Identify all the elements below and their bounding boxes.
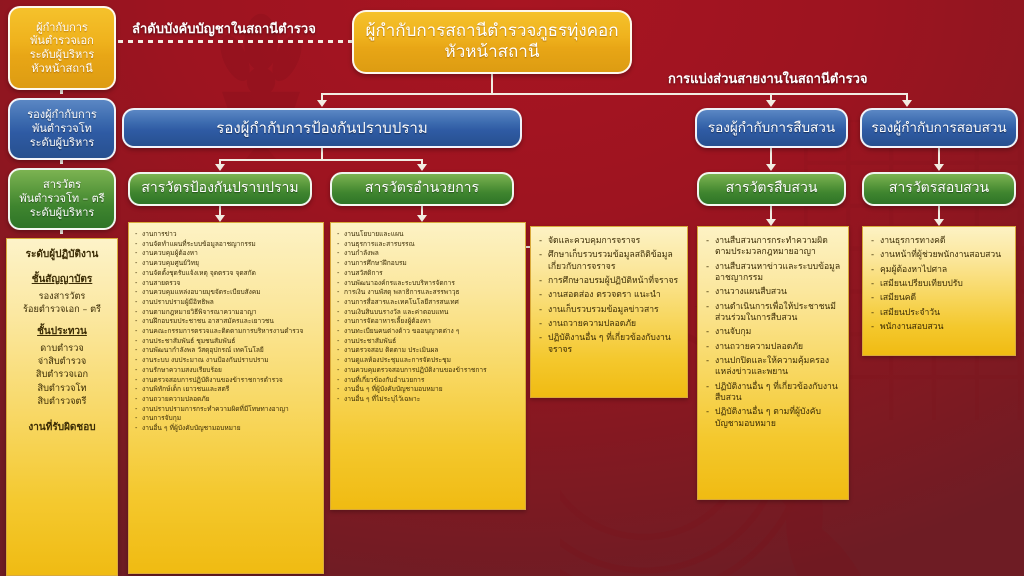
deputy-prevention-label: รองผู้กำกับการป้องกันปราบปราม [130, 119, 514, 138]
sidebar-footer-label: งานที่รับผิดชอบ [11, 420, 113, 435]
sidebar-commissioned-row: รองสารวัตร [11, 290, 113, 303]
rank-deputy-line-2: พันตำรวจโท [16, 122, 108, 136]
connector-sw-inquiry-down [938, 206, 940, 220]
rank-box-superintendent[interactable]: ผู้กำกับการ พันตำรวจเอก ระดับผู้บริหาร ห… [8, 6, 116, 90]
rank-deputy-line-1: รองผู้กำกับการ [16, 108, 108, 122]
sidebar-section-noncommissioned-title: ชั้นประทวน [11, 324, 113, 339]
duty-item: งานนโยบายและแผน [337, 230, 521, 239]
rank-insp-line-3: ระดับผู้บริหาร [16, 206, 108, 220]
duty-item: งานระบบ งบประมาณ งานป้องกันปราบปราม [135, 356, 319, 365]
connector-inquiry-to-sw [938, 148, 940, 165]
duty-item: การศึกษาอบรมผู้ปฏิบัติหน้าที่จราจร [539, 276, 680, 287]
arrow-sw-inquiry [934, 164, 944, 171]
sidebar-heading: ระดับผู้ปฏิบัติงาน [11, 247, 113, 262]
inspector-investigation-box[interactable]: สารวัตรสืบสวน [697, 172, 846, 206]
duty-item: ปฏิบัติงานอื่น ๆ ที่เกี่ยวข้องกับงานสืบส… [706, 382, 841, 405]
connector-main-bus [321, 93, 907, 95]
rank-insp-line-2: พันตำรวจโท – ตรี [16, 192, 108, 206]
duties-panel-traffic: จัดและควบคุมการจราจรศึกษาเก็บรวบรวมข้อมู… [530, 226, 688, 398]
duties-list-prevention: งานการข่าวงานจัดทำแผนที่ระบบข้อมูลอาชญาก… [135, 230, 319, 433]
arrow-panel-inquiry [934, 219, 944, 226]
duty-item: งานฝึกอบรมประชาชน อาสาสมัครและเยาวชน [135, 317, 319, 326]
deputy-investigation-label: รองผู้กำกับการสืบสวน [703, 120, 840, 137]
duty-item: เสมียนประจำวัน [871, 308, 1008, 319]
duty-item: งานตรวจสอบการปฏิบัติงานของข้าราชการตำรวจ [135, 376, 319, 385]
sidebar-section-commissioned-title: ชั้นสัญญาบัตร [11, 272, 113, 287]
duty-item: งานถวายความปลอดภัย [706, 342, 841, 353]
inspector-inquiry-box[interactable]: สารวัตรสอบสวน [862, 172, 1016, 206]
rank-box-deputy-superintendent[interactable]: รองผู้กำกับการ พันตำรวจโท ระดับผู้บริหาร [8, 98, 116, 160]
duty-item: งานธุรการทางคดี [871, 236, 1008, 247]
duties-list-inquiry: งานธุรการทางคดีงานหน้าที่ผู้ช่วยพนักงานส… [871, 236, 1008, 333]
connector-sw-inves-down [770, 206, 772, 220]
connector-ladder-to-chief [118, 40, 354, 43]
duty-item: งานการศึกษาฝึกอบรม [337, 259, 521, 268]
duty-item: งานตรวจสอบ ติดตาม ประเมินผล [337, 346, 521, 355]
duty-item: ศึกษาเก็บรวบรวมข้อมูลสถิติข้อมูลเกี่ยวกั… [539, 250, 680, 273]
duty-item: งานสืบสวนการกระทำความผิดตามประมวลกฎหมายอ… [706, 236, 841, 259]
sidebar-noncommissioned-row: สิบตำรวจโท [11, 382, 113, 395]
duty-item: เสมียนคดี [871, 293, 1008, 304]
duty-item: งานกำลังพล [337, 249, 521, 258]
duty-item: งานพัฒนากำลังพล วัสดุอุปกรณ์ เทคโนโลยี [135, 346, 319, 355]
duty-item: งานอื่น ๆ ที่ผู้บังคับบัญชามอบหมาย [135, 424, 319, 433]
arrow-panel-inves [766, 219, 776, 226]
station-chief-subtitle: หัวหน้าสถานี [360, 42, 624, 63]
inspector-inquiry-label: สารวัตรสอบสวน [870, 180, 1008, 198]
duty-item: เสมียนเปรียบเทียบปรับ [871, 279, 1008, 290]
arrow-sw-admin [417, 164, 427, 171]
duties-list-administration: งานนโยบายและแผนงานธุรการและสารบรรณงานกำล… [337, 230, 521, 404]
sidebar-noncommissioned-row: สิบตำรวจตรี [11, 395, 113, 408]
duty-item: งานควบคุมตรวจสอบการปฏิบัติงานของข้าราชกา… [337, 366, 521, 375]
duty-item: จัดและควบคุมการจราจร [539, 236, 680, 247]
duty-item: งานสวัสดิการ [337, 269, 521, 278]
station-chief-title: ผู้กำกับการสถานีตำรวจภูธรทุ่งคอก [360, 21, 624, 42]
inspector-prevention-box[interactable]: สารวัตรป้องกันปราบปราม [128, 172, 312, 206]
duty-item: งานการข่าว [135, 230, 319, 239]
connector-prevention-bus [219, 159, 423, 161]
duty-item: งานสอดส่อง ตรวจตรา แนะนำ [539, 290, 680, 301]
duty-item: งานธุรการและสารบรรณ [337, 240, 521, 249]
arrow-inquiry [902, 100, 912, 107]
caption-chain-of-command: ลำดับบังคับบัญชาในสถานีตำรวจ [132, 18, 316, 39]
duty-item: งานถวายความปลอดภัย [135, 395, 319, 404]
duty-item: งานหน้าที่ผู้ช่วยพนักงานสอบสวน [871, 250, 1008, 261]
rank-supt-line-1: ผู้กำกับการ [16, 21, 108, 35]
deputy-investigation-box[interactable]: รองผู้กำกับการสืบสวน [695, 108, 848, 148]
duty-item: งานสืบสวนหาข่าวและระบบข้อมูลอาชญากรรม [706, 262, 841, 285]
duty-item: งานดูแลห้องประชุมและการจัดประชุม [337, 356, 521, 365]
sidebar-noncommissioned-row: จ่าสิบตำรวจ [11, 355, 113, 368]
arrow-prevention [317, 100, 327, 107]
duty-item: งานรักษาความสงบเรียบร้อย [135, 366, 319, 375]
duty-item: งานประชาสัมพันธ์ ชุมชนสัมพันธ์ [135, 337, 319, 346]
duty-item: งานวางแผนสืบสวน [706, 287, 841, 298]
arrow-sw-prevent [215, 164, 225, 171]
inspector-prevention-label: สารวัตรป้องกันปราบปราม [136, 180, 304, 198]
duty-item: งานเก็บรวบรวมข้อมูลข่าวสาร [539, 305, 680, 316]
arrow-panel-prevent [215, 215, 225, 222]
rank-supt-line-2: พันตำรวจเอก [16, 34, 108, 48]
inspector-administration-box[interactable]: สารวัตรอำนวยการ [330, 172, 514, 206]
duty-item: งานคณะกรรมการตรวจและติดตามการบริหารงานตำ… [135, 327, 319, 336]
duty-item: งานสายตรวจ [135, 279, 319, 288]
arrow-investigation [766, 100, 776, 107]
deputy-prevention-box[interactable]: รองผู้กำกับการป้องกันปราบปราม [122, 108, 522, 148]
duty-item: งานเงินสินบนรางวัล และค่าตอบแทน [337, 308, 521, 317]
org-chart-canvas: ลำดับบังคับบัญชาในสถานีตำรวจ การแบ่งส่วน… [0, 0, 1024, 576]
inspector-administration-label: สารวัตรอำนวยการ [338, 180, 506, 198]
duties-list-investigation: งานสืบสวนการกระทำความผิดตามประมวลกฎหมายอ… [706, 236, 841, 430]
sidebar-noncommissioned-row: ดาบตำรวจ [11, 342, 113, 355]
duty-item: งานอื่น ๆ ที่ไม่ระบุไว้เฉพาะ [337, 395, 521, 404]
duty-item: การเงิน งานพัสดุ พลาธิการและสรรพาวุธ [337, 288, 521, 297]
rank-deputy-line-3: ระดับผู้บริหาร [16, 136, 108, 150]
rank-insp-line-1: สารวัตร [16, 178, 108, 192]
station-chief-box[interactable]: ผู้กำกับการสถานีตำรวจภูธรทุ่งคอก หัวหน้า… [352, 10, 632, 74]
duty-item: งานพัฒนาองค์กรและระบบริหารจัดการ [337, 279, 521, 288]
duty-item: งานทะเบียนคนต่างด้าว ขออนุญาตต่าง ๆ [337, 327, 521, 336]
arrow-panel-admin [417, 215, 427, 222]
arrow-sw-inves [766, 164, 776, 171]
duties-panel-prevention: งานการข่าวงานจัดทำแผนที่ระบบข้อมูลอาชญาก… [128, 222, 324, 574]
connector-inves-to-sw [770, 148, 772, 165]
sidebar-commissioned-row: ร้อยตำรวจเอก – ตรี [11, 303, 113, 316]
duty-item: งานดำเนินการเพื่อให้ประชาชนมีส่วนร่วมในก… [706, 302, 841, 325]
duty-item: ปฏิบัติงานอื่น ๆ ที่เกี่ยวข้องกับงานจราจ… [539, 333, 680, 356]
duty-item: งานที่เกี่ยวข้องกับอำนวยการ [337, 376, 521, 385]
duty-item: พนักงานสอบสวน [871, 322, 1008, 333]
duty-item: งานจับกุม [706, 327, 841, 338]
duty-item: งานจัดทำแผนที่ระบบข้อมูลอาชญากรรม [135, 240, 319, 249]
connector-chief-down [491, 74, 493, 94]
duty-item: งานตามกฎหมายวิธีพิจารณาความอาญา [135, 308, 319, 317]
duty-item: ปฏิบัติงานอื่น ๆ ตามที่ผู้บังคับบัญชามอบ… [706, 407, 841, 430]
duty-item: งานปกปิดและให้ความคุ้มครองแหล่งข่าวและพย… [706, 356, 841, 379]
deputy-inquiry-box[interactable]: รองผู้กำกับการสอบสวน [860, 108, 1018, 148]
duty-item: งานปราบปรามผู้มีอิทธิพล [135, 298, 319, 307]
duty-item: งานการสื่อสารและเทคโนโลยีสารสนเทศ [337, 298, 521, 307]
duty-item: งานปราบปรามการกระทำความผิดที่มีโทษทางอาญ… [135, 405, 319, 414]
duty-item: คุมผู้ต้องหาไปศาล [871, 265, 1008, 276]
duty-item: งานควบคุมศูนย์วิทยุ [135, 259, 319, 268]
deputy-inquiry-label: รองผู้กำกับการสอบสวน [868, 120, 1010, 137]
duty-item: งานถวายความปลอดภัย [539, 319, 680, 330]
duty-item: งานประชาสัมพันธ์ [337, 337, 521, 346]
rank-box-inspector[interactable]: สารวัตร พันตำรวจโท – ตรี ระดับผู้บริหาร [8, 168, 116, 230]
rank-supt-line-3: ระดับผู้บริหาร [16, 48, 108, 62]
duty-item: งานพิทักษ์เด็ก เยาวชนและสตรี [135, 385, 319, 394]
duty-item: งานการจัดอาหารเลี้ยงผู้ต้องหา [337, 317, 521, 326]
duty-item: งานอื่น ๆ ที่ผู้บังคับบัญชามอบหมาย [337, 385, 521, 394]
duties-panel-administration: งานนโยบายและแผนงานธุรการและสารบรรณงานกำล… [330, 222, 526, 510]
caption-division-of-work: การแบ่งส่วนสายงานในสถานีตำรวจ [668, 68, 868, 89]
inspector-investigation-label: สารวัตรสืบสวน [705, 180, 838, 198]
sidebar-noncommissioned-row: สิบตำรวจเอก [11, 368, 113, 381]
duties-panel-investigation: งานสืบสวนการกระทำความผิดตามประมวลกฎหมายอ… [697, 226, 849, 500]
duty-item: งานการจับกุม [135, 414, 319, 423]
duties-panel-inquiry: งานธุรการทางคดีงานหน้าที่ผู้ช่วยพนักงานส… [862, 226, 1016, 356]
duty-item: งานควบคุมผู้ต้องหา [135, 249, 319, 258]
operational-ranks-sidebar: ระดับผู้ปฏิบัติงาน ชั้นสัญญาบัตร รองสารว… [6, 238, 118, 576]
rank-supt-line-4: หัวหน้าสถานี [16, 62, 108, 76]
duty-item: งานจัดตั้งชุดรับแจ้งเหตุ จุดตรวจ จุดสกัด [135, 269, 319, 278]
duties-list-traffic: จัดและควบคุมการจราจรศึกษาเก็บรวบรวมข้อมู… [539, 236, 680, 356]
duty-item: งานควบคุมแหล่งอบายมุขจัดระเบียบสังคม [135, 288, 319, 297]
